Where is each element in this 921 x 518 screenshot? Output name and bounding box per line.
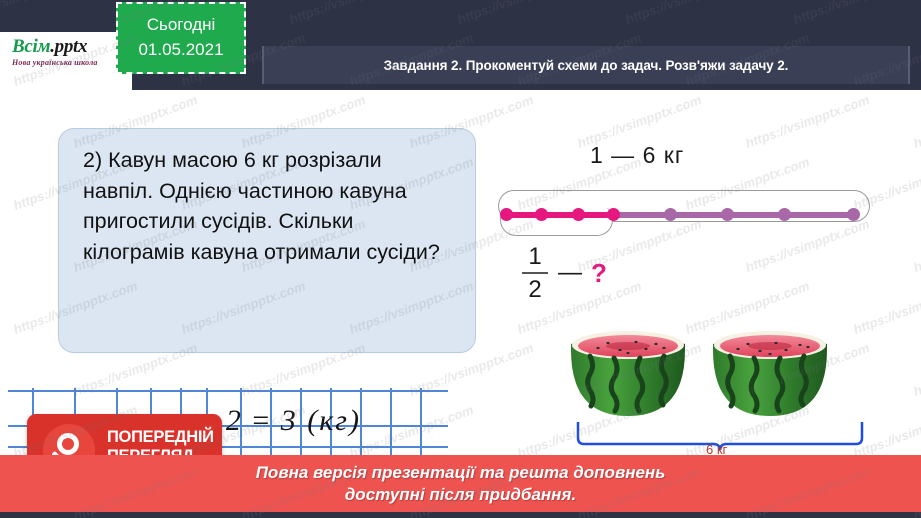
scheme-dot [535,208,548,221]
preview-badge-line1: ПОПЕРЕДНІЙ [107,428,217,447]
equation-unit: (кг) [307,404,361,437]
purchase-notice-banner: Повна версія презентації та решта доповн… [0,455,921,512]
task-text: 2) Кавун масою 6 кг розрізали навпіл. Од… [83,145,457,267]
watermelon-half-right-icon [710,326,830,418]
scheme-dot [847,208,860,221]
logo-title-suffix: .pptx [50,36,87,57]
scheme-dot [778,208,791,221]
scheme-dot [664,208,677,221]
scheme-dot [572,208,585,221]
watermelon-half-left-icon [568,326,688,418]
date-badge: Сьогодні 01.05.2021 [116,2,246,74]
equation-equals: = [252,404,271,437]
logo-subtitle: Нова українська школа [12,58,130,67]
banner-line1: Повна версія презентації та решта доповн… [256,462,666,483]
scheme-fraction-label: 1 2 — ? [522,244,607,302]
equation-divisor: 2 [226,404,243,437]
task-text-box: 2) Кавун масою 6 кг розрізали навпіл. Од… [58,128,476,353]
equation-result: 3 [281,404,298,437]
scheme-outline-mask [501,202,612,208]
scheme-segment-part [504,212,613,218]
date-badge-label: Сьогодні [147,13,216,38]
banner-line2: доступні після придбання. [345,484,576,505]
logo-title-prefix: Всім [12,36,50,57]
scheme-half-outline [500,204,613,236]
date-badge-date: 01.05.2021 [138,38,223,63]
grid-line [8,390,448,392]
number-line-scheme: 1 — 6 кг 1 2 — ? [490,140,890,325]
fraction-stack: 1 2 [522,244,548,302]
scheme-segment-whole [610,212,858,218]
fraction-dash: — [558,259,581,287]
fraction-bar [522,272,548,274]
handwritten-equation: : 2 = 3 (кг) [206,404,361,438]
fraction-denominator: 2 [528,277,541,302]
header-title-strip: Завдання 2. Прокоментуй схеми до задач. … [262,46,910,84]
scheme-dot [607,208,620,221]
scheme-dot [500,208,513,221]
page-title: Завдання 2. Прокоментуй схеми до задач. … [384,58,789,73]
bottom-dark-strip [0,512,921,518]
fraction-numerator: 1 [528,244,541,269]
fraction-answer-question: ? [591,258,607,289]
scheme-dot [721,208,734,221]
logo-title: Всім.pptx [12,36,130,58]
scheme-whole-label: 1 — 6 кг [590,142,684,169]
magnifier-lens [57,433,79,455]
slide-canvas: Всім.pptx Нова українська школа Сьогодні… [0,0,921,518]
watermelon-illustration-group [560,326,880,426]
